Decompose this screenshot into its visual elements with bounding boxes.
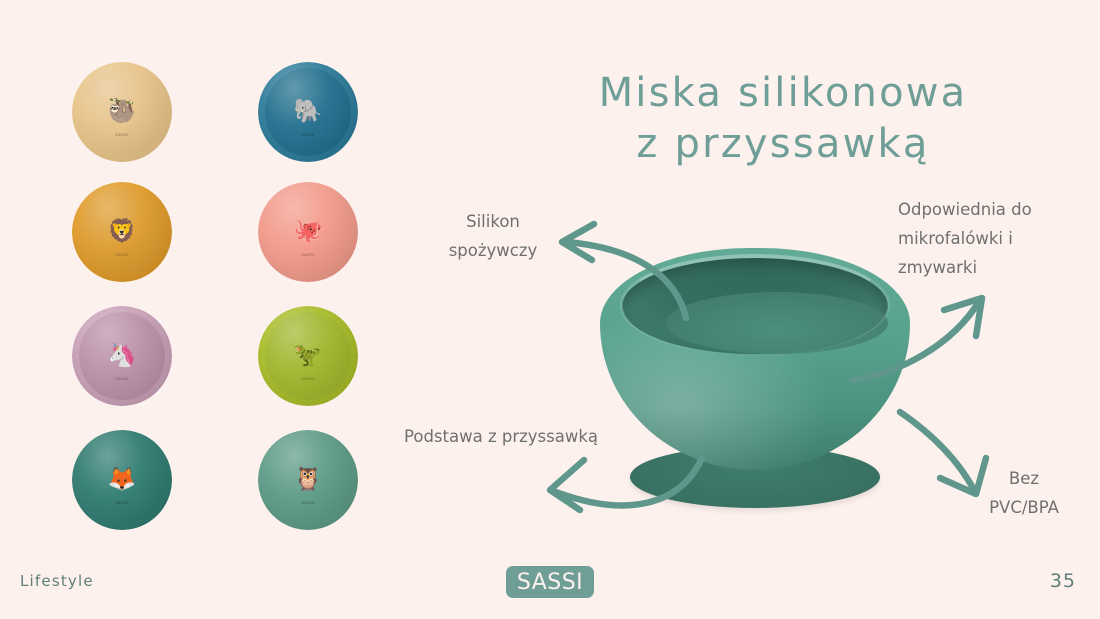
bowl-brand-mark: SASSI xyxy=(301,376,315,381)
dinosaur-icon: 🦖 xyxy=(294,344,323,367)
annotation-pvc: Bez PVC/BPA xyxy=(966,465,1082,523)
annotation-silikon-line1: Silikon xyxy=(418,208,568,237)
curved-arrow-left-lower-icon xyxy=(530,448,710,528)
bowl-thumbnail[interactable]: 🦁 SASSI xyxy=(72,182,172,282)
annotation-pvc-line2: PVC/BPA xyxy=(966,494,1082,523)
unicorn-icon: 🦄 xyxy=(108,344,137,367)
page-title: Miska silikonowa z przyssawką xyxy=(548,68,1018,170)
bowl-thumbnail[interactable]: 🦖 SASSI xyxy=(258,306,358,406)
bowl-thumbnail[interactable]: 🦥 SASSI xyxy=(72,62,172,162)
bowl-brand-mark: SASSI xyxy=(115,132,129,137)
annotation-podstawa: Podstawa z przyssawką xyxy=(376,423,626,452)
sloth-icon: 🦥 xyxy=(108,100,137,123)
annotation-mikrofalowka-line1: Odpowiednia do xyxy=(898,196,1084,225)
bowl-brand-mark: SASSI xyxy=(301,252,315,257)
page-title-line1: Miska silikonowa xyxy=(599,70,968,116)
annotation-pvc-line1: Bez xyxy=(966,465,1082,494)
curved-arrow-up-right-icon xyxy=(848,288,998,388)
annotation-mikrofalowka-line2: mikrofalówki i xyxy=(898,225,1084,254)
owl-icon: 🦉 xyxy=(294,468,323,491)
page-title-line2: z przyssawką xyxy=(548,119,1018,170)
bowl-brand-mark: SASSI xyxy=(115,500,129,505)
elephant-icon: 🐘 xyxy=(294,100,323,123)
annotation-mikrofalowka: Odpowiednia do mikrofalówki i zmywarki xyxy=(898,196,1084,283)
bowl-thumbnail[interactable]: 🐙 SASSI xyxy=(258,182,358,282)
octopus-icon: 🐙 xyxy=(294,220,323,243)
footer-section-label: Lifestyle xyxy=(20,572,94,590)
bowl-brand-mark: SASSI xyxy=(115,252,129,257)
bowl-brand-mark: SASSI xyxy=(115,376,129,381)
bowl-thumbnail[interactable]: 🦉 SASSI xyxy=(258,430,358,530)
bowl-thumbnail[interactable]: 🐘 SASSI xyxy=(258,62,358,162)
page-number: 35 xyxy=(1050,570,1076,592)
bowl-brand-mark: SASSI xyxy=(301,132,315,137)
bowl-thumbnail[interactable]: 🦄 SASSI xyxy=(72,306,172,406)
bowl-brand-mark: SASSI xyxy=(301,500,315,505)
bowl-thumbnail[interactable]: 🦊 SASSI xyxy=(72,430,172,530)
annotation-mikrofalowka-line3: zmywarki xyxy=(898,254,1084,283)
fox-icon: 🦊 xyxy=(108,468,137,491)
sassi-logo: SASSI xyxy=(506,566,594,598)
sassi-logo-text: SASSI xyxy=(517,570,583,595)
bowl-variant-grid: 🦥 SASSI 🐘 SASSI 🦁 SASSI 🐙 SASSI xyxy=(66,56,366,536)
lion-icon: 🦁 xyxy=(108,220,137,243)
annotation-podstawa-line1: Podstawa z przyssawką xyxy=(376,423,626,452)
annotation-silikon-line2: spożywczy xyxy=(418,237,568,266)
annotation-silikon: Silikon spożywczy xyxy=(418,208,568,266)
slide-canvas: 🦥 SASSI 🐘 SASSI 🦁 SASSI 🐙 SASSI xyxy=(0,0,1100,619)
